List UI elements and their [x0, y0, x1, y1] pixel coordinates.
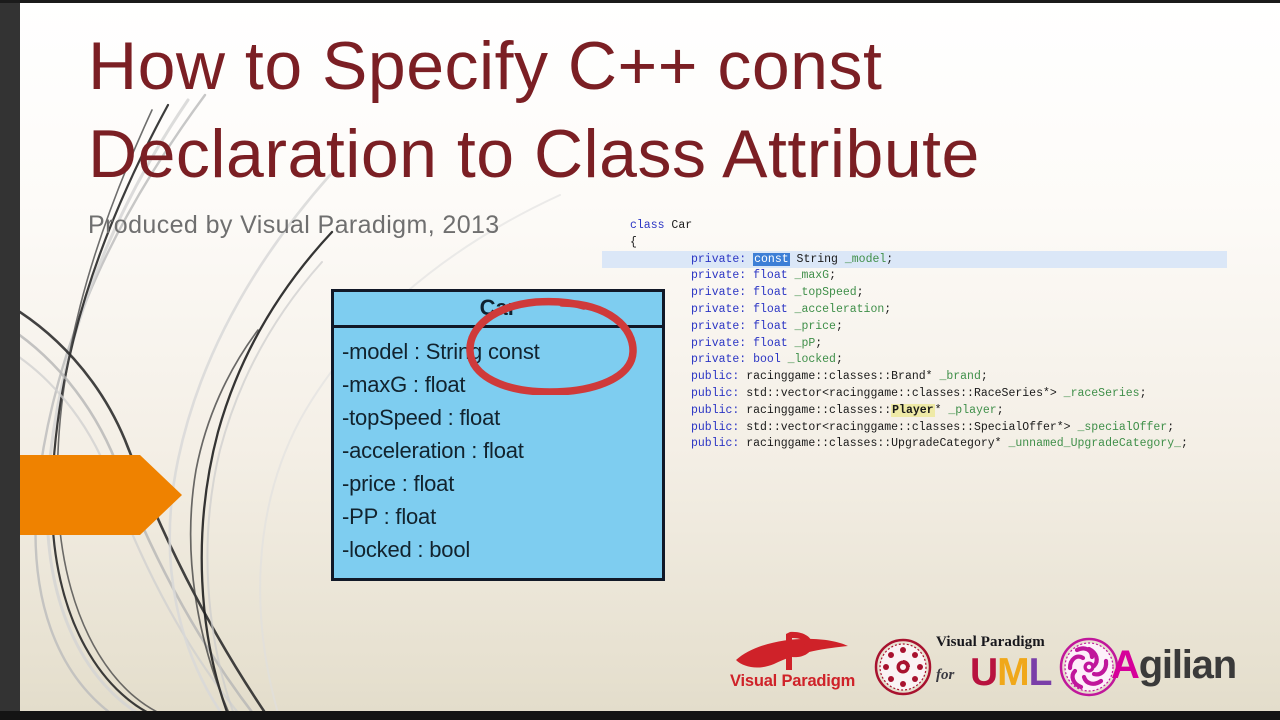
code-line: class Car — [630, 218, 1270, 235]
visual-paradigm-logo: Visual Paradigm — [726, 630, 859, 702]
code-token: ; — [886, 253, 893, 266]
code-line: private: float _acceleration; — [630, 302, 1270, 319]
code-token: Car — [671, 219, 692, 232]
uml-letter: M — [997, 651, 1029, 694]
code-token: class — [630, 219, 671, 232]
code-token: private: — [691, 353, 753, 366]
code-line: private: const String _model; — [630, 252, 1270, 269]
code-token: Player — [891, 404, 934, 417]
code-line: private: float _maxG; — [630, 268, 1270, 285]
code-token: _pP — [795, 337, 816, 350]
code-token: * — [935, 404, 949, 417]
page-title-line-2: Declaration to Class Attribute — [88, 110, 1158, 198]
agilian-logo-text: Agilian — [1111, 640, 1236, 690]
code-token: ; — [1167, 421, 1174, 434]
code-token: bool — [753, 353, 788, 366]
code-token: private: — [691, 269, 753, 282]
code-token: public: — [691, 437, 746, 450]
title-block: How to Specify C++ const Declaration to … — [88, 22, 1158, 240]
bottom-dark-band — [0, 711, 1280, 720]
code-token: _maxG — [795, 269, 830, 282]
code-token: float — [753, 303, 794, 316]
code-token: private: — [691, 253, 753, 266]
code-token: ; — [829, 269, 836, 282]
uml-attribute: -topSpeed : float — [339, 401, 657, 434]
code-token: const — [753, 253, 790, 266]
code-token: _brand — [939, 370, 980, 383]
orange-arrow-shape — [0, 455, 182, 535]
code-line: private: float _topSpeed; — [630, 285, 1270, 302]
code-line: public: racinggame::classes::Player* _pl… — [630, 403, 1270, 420]
agilian-swirl-magenta-icon — [1059, 637, 1119, 697]
code-snippet: class Car{private: const String _model;p… — [630, 218, 1270, 453]
code-token: float — [753, 286, 794, 299]
code-token: _raceSeries — [1064, 387, 1140, 400]
red-ellipse-annotation-icon — [466, 297, 638, 395]
left-dark-bar — [0, 0, 20, 720]
code-token: private: — [691, 303, 753, 316]
logo-strip: Visual Paradigm Visual Paradigm for UML — [726, 628, 1280, 706]
code-token: public: — [691, 404, 746, 417]
code-token: float — [753, 320, 794, 333]
agilian-logo: Agilian — [1059, 632, 1280, 700]
code-line: { — [630, 235, 1270, 252]
code-token: racinggame::classes::Brand* — [746, 370, 939, 383]
code-token: ; — [836, 320, 843, 333]
uml-circular-crimson-icon — [874, 638, 932, 696]
code-token: _locked — [788, 353, 836, 366]
code-token: _specialOffer — [1077, 421, 1167, 434]
code-line: private: float _price; — [630, 319, 1270, 336]
code-token: _price — [795, 320, 836, 333]
code-token: String — [790, 253, 845, 266]
code-token: ; — [1181, 437, 1188, 450]
uml-attribute: -acceleration : float — [339, 434, 657, 467]
code-token: _acceleration — [795, 303, 885, 316]
visual-paradigm-logo-text: Visual Paradigm — [726, 672, 859, 691]
vp-uml-top-text: Visual Paradigm — [936, 634, 1045, 651]
code-token: public: — [691, 387, 746, 400]
code-token: ; — [997, 404, 1004, 417]
code-token: _unnamed_UpgradeCategory_ — [1008, 437, 1181, 450]
code-token: std::vector<racinggame::classes::RaceSer… — [746, 387, 1063, 400]
code-token: float — [753, 269, 794, 282]
code-token: racinggame::classes::UpgradeCategory* — [746, 437, 1008, 450]
code-token: std::vector<racinggame::classes::Special… — [746, 421, 1077, 434]
code-line: public: std::vector<racinggame::classes:… — [630, 420, 1270, 437]
vp-eye-p-icon — [732, 630, 852, 674]
code-line: public: racinggame::classes::UpgradeCate… — [630, 436, 1270, 453]
presentation-slide: How to Specify C++ const Declaration to … — [0, 0, 1280, 720]
code-token: ; — [815, 337, 822, 350]
uml-letter: U — [970, 651, 997, 694]
code-line: private: float _pP; — [630, 336, 1270, 353]
code-token: _player — [948, 404, 996, 417]
uml-letters: UML — [970, 651, 1052, 695]
code-token: ; — [884, 303, 891, 316]
uml-attribute: -price : float — [339, 467, 657, 500]
code-token: ; — [836, 353, 843, 366]
agilian-a: A — [1111, 643, 1139, 687]
code-line: public: racinggame::classes::Brand* _bra… — [630, 369, 1270, 386]
code-token: ; — [1140, 387, 1147, 400]
agilian-rest: gilian — [1139, 643, 1236, 687]
code-token: public: — [691, 421, 746, 434]
uml-letter: L — [1029, 651, 1052, 694]
code-token: private: — [691, 337, 753, 350]
code-token: _topSpeed — [795, 286, 857, 299]
code-token: ; — [981, 370, 988, 383]
page-title-line-1: How to Specify C++ const — [88, 22, 1158, 110]
code-token: private: — [691, 320, 753, 333]
code-token: racinggame::classes:: — [746, 404, 891, 417]
uml-attribute: -PP : float — [339, 500, 657, 533]
code-token: ; — [857, 286, 864, 299]
uml-attribute: -locked : bool — [339, 533, 657, 566]
code-token: float — [753, 337, 794, 350]
code-line: private: bool _locked; — [630, 352, 1270, 369]
code-token: _model — [845, 253, 886, 266]
code-token: { — [630, 236, 637, 249]
code-line: public: std::vector<racinggame::classes:… — [630, 386, 1270, 403]
vp-uml-logo: Visual Paradigm for UML — [874, 632, 1054, 700]
vp-uml-for-text: for — [936, 667, 954, 684]
code-token: public: — [691, 370, 746, 383]
top-border-rule — [0, 0, 1280, 3]
code-token: private: — [691, 286, 753, 299]
